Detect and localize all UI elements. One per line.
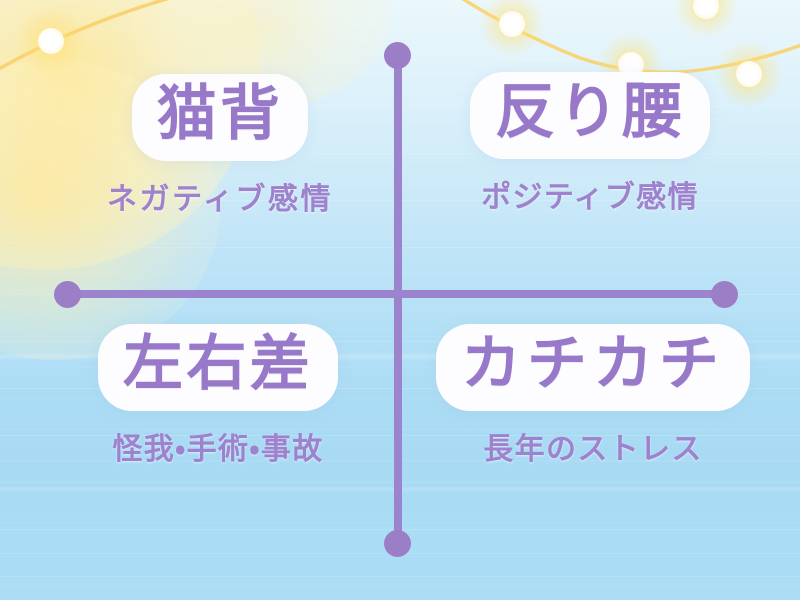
light-wire-strand-2 [452, 0, 800, 72]
quadrant-top-right-caption: ポジティブ感情 [481, 172, 699, 216]
quadrant-top-left-caption: ネガティブ感情 [107, 174, 333, 218]
quadrant-bottom-right-label: カチカチ [461, 331, 725, 398]
quadrant-bottom-left-caption: 怪我・手術・事故 [112, 424, 323, 468]
axis-endpoint-dot-bottom [384, 530, 411, 557]
quadrant-top-right-card: 反り腰 [470, 72, 710, 159]
poster-canvas: 猫背 ネガティブ感情 反り腰 ポジティブ感情 左右差 怪我・手術・事故 カチカチ… [0, 0, 800, 600]
quadrant-top-right-label: 反り腰 [495, 79, 685, 146]
quadrant-bottom-right-caption: 長年のストレス [483, 424, 702, 468]
quadrant-top-left-card: 猫背 [132, 74, 309, 161]
axis-endpoint-dot-top [384, 42, 411, 69]
axis-endpoint-dot-right [711, 281, 738, 308]
quadrant-top-right: 反り腰 ポジティブ感情 [400, 72, 780, 216]
quadrant-top-left-label: 猫背 [157, 81, 284, 148]
axis-endpoint-dot-left [54, 281, 81, 308]
horizontal-divider-line [66, 290, 726, 298]
quadrant-bottom-right: カチカチ 長年のストレス [398, 324, 788, 468]
quadrant-bottom-right-card: カチカチ [436, 324, 750, 411]
quadrant-top-left: 猫背 ネガティブ感情 [30, 74, 410, 218]
quadrant-bottom-left-label: 左右差 [123, 331, 313, 398]
quadrant-bottom-left-card: 左右差 [98, 324, 338, 411]
quadrant-bottom-left: 左右差 怪我・手術・事故 [18, 324, 418, 468]
